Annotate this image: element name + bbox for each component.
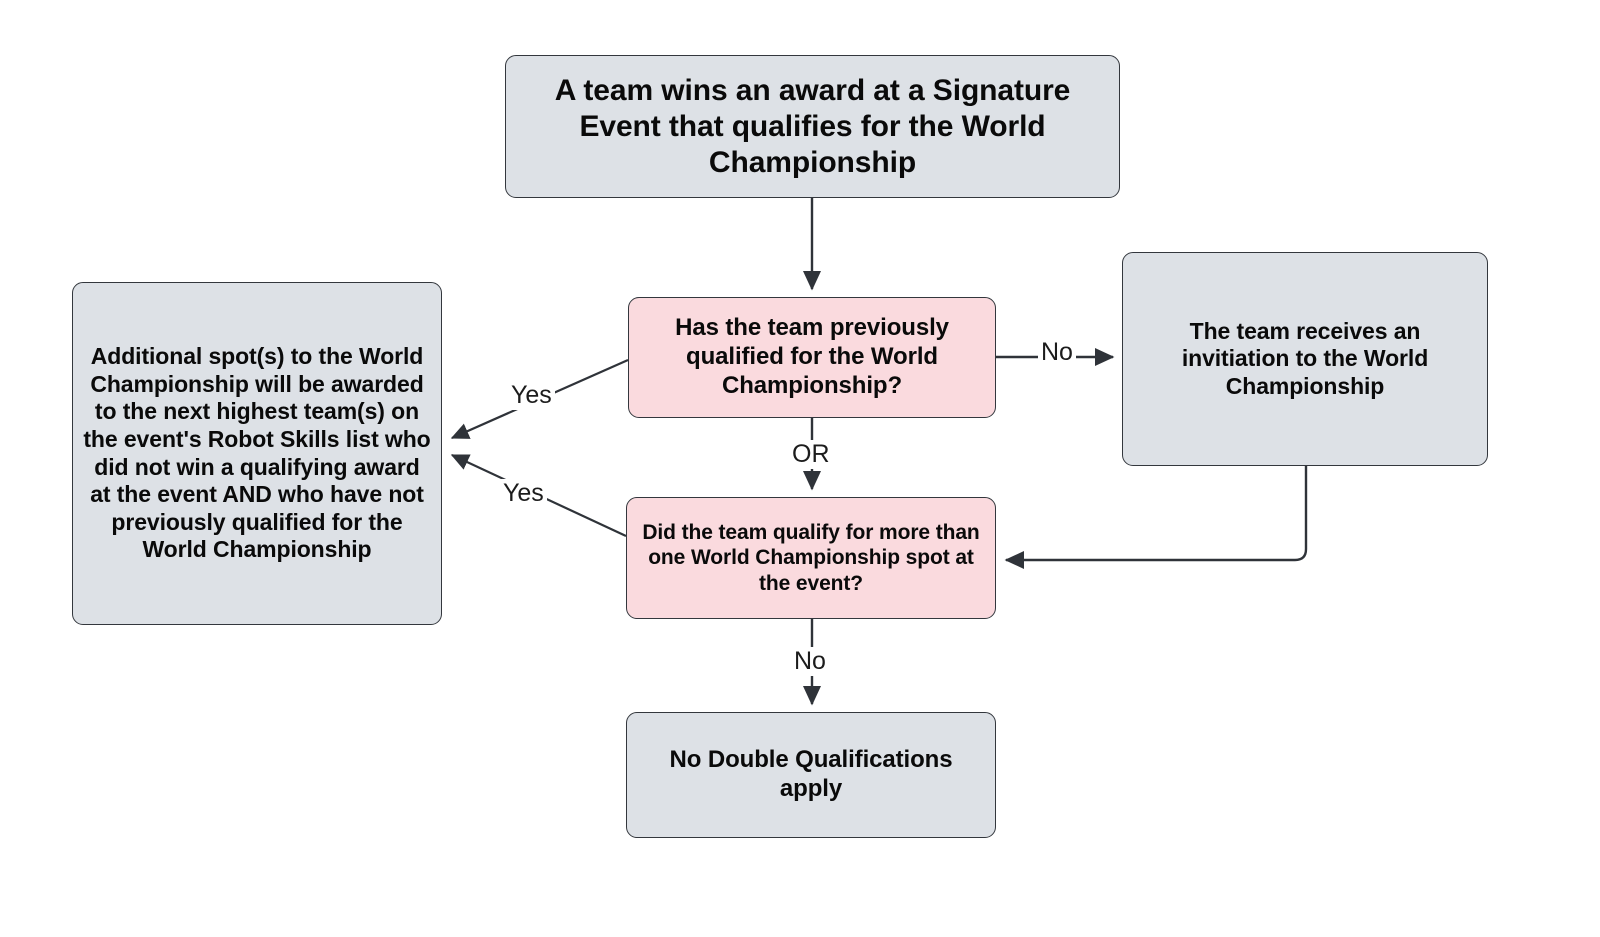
node-start[interactable]: A team wins an award at a Signature Even…	[505, 55, 1120, 198]
edge-invitation-to-decision-2	[1006, 466, 1306, 560]
node-additional-spots[interactable]: Additional spot(s) to the World Champion…	[72, 282, 442, 625]
edge-label-no-decision-1: No	[1038, 338, 1076, 367]
edge-label-yes-decision-2: Yes	[500, 479, 547, 508]
node-team-receives-invitation[interactable]: The team receives an invitiation to the …	[1122, 252, 1488, 466]
edge-label-yes-decision-1: Yes	[508, 381, 555, 410]
edge-label-no-decision-2: No	[791, 647, 829, 676]
node-decision-previously-qualified[interactable]: Has the team previously qualified for th…	[628, 297, 996, 418]
edge-label-or: OR	[789, 440, 833, 469]
node-decision-multiple-spots[interactable]: Did the team qualify for more than one W…	[626, 497, 996, 619]
node-no-double-qualifications[interactable]: No Double Qualifications apply	[626, 712, 996, 838]
flowchart-canvas: A team wins an award at a Signature Even…	[0, 0, 1600, 937]
